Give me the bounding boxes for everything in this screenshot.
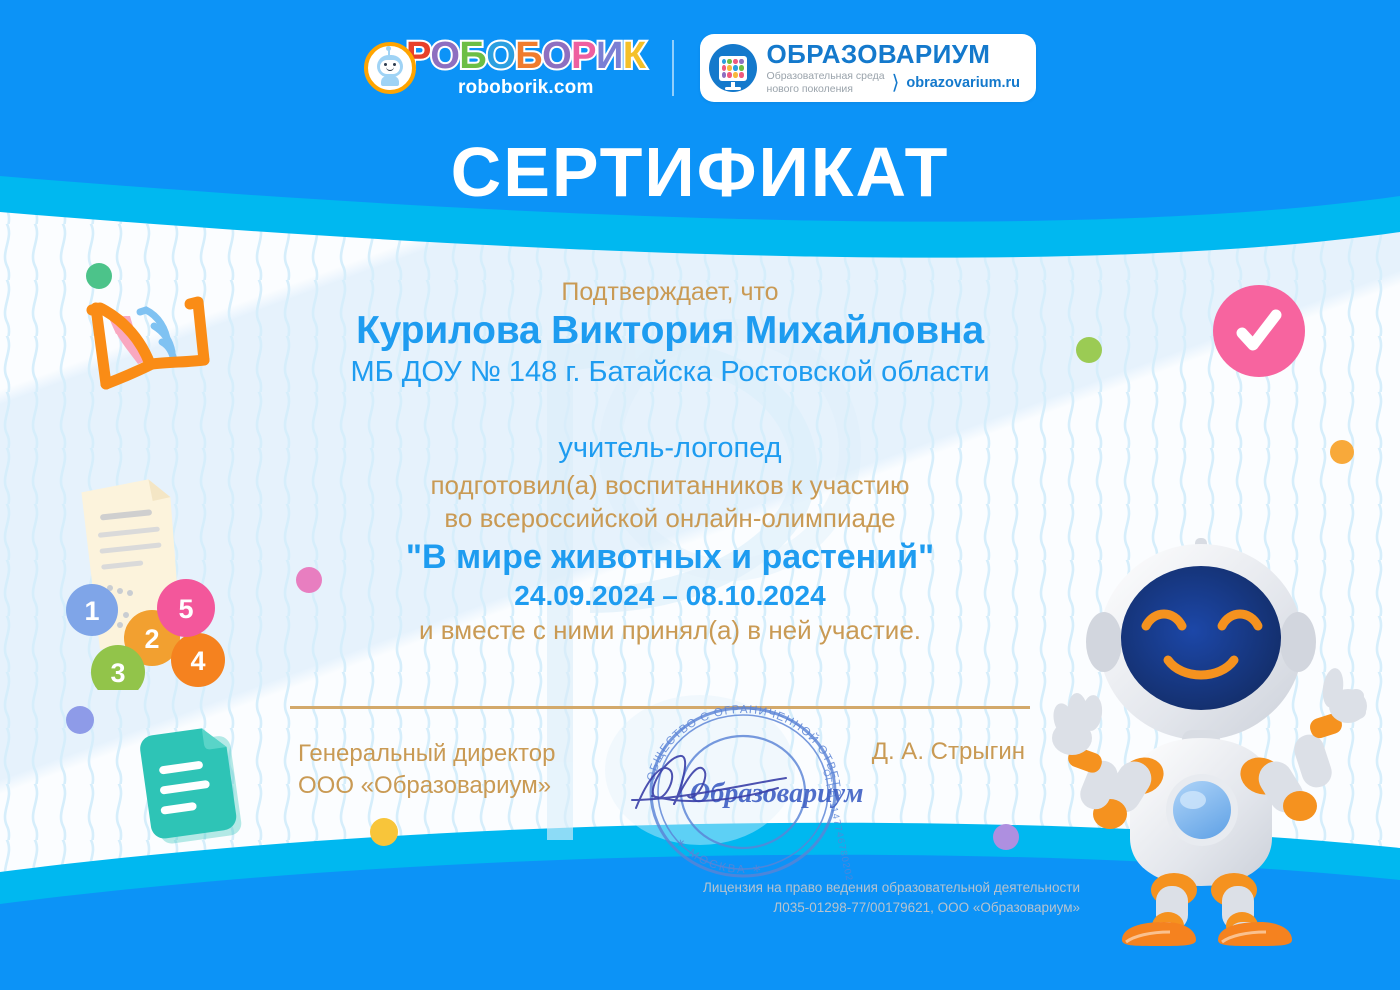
number-bubble-label: 5 — [178, 594, 193, 624]
roboborik-letter: Б — [515, 35, 542, 77]
license-note: Лицензия на право ведения образовательно… — [540, 878, 1080, 917]
signer-position: Генеральный директор ООО «Образовариум» — [298, 738, 555, 801]
roboborik-logo[interactable]: РОБОБОРИК roboborik.com — [364, 37, 646, 99]
signer-name: Д. А. Стрыгин — [872, 738, 1025, 766]
dot-yellow-bottom — [370, 818, 398, 846]
monitor-dot — [727, 59, 731, 64]
monitor-dot — [733, 72, 737, 77]
monitor-dot — [739, 59, 743, 64]
signer-position-line2: ООО «Образовариум» — [298, 770, 555, 802]
company-stamp: ОБЩЕСТВО С ОГРАНИЧЕННОЙ ОТВЕТСТВЕННОСТЬЮ… — [618, 700, 868, 880]
monitor-dot — [727, 65, 731, 70]
number-bubble-label: 2 — [144, 624, 159, 654]
teal-document-icon — [136, 722, 252, 854]
page-title: СЕРТИФИКАТ — [0, 132, 1400, 212]
olympiad-dates: 24.09.2024 – 08.10.2024 — [280, 580, 1060, 612]
monitor-icon — [709, 44, 757, 92]
roboborik-letter: О — [486, 35, 515, 77]
number-bubble-label: 1 — [84, 596, 99, 626]
obrazovarium-logo[interactable]: ОБРАЗОВАРИУМ Образовательная среда новог… — [700, 34, 1036, 102]
recipient-role: учитель-логопед — [280, 432, 1060, 465]
monitor-dot — [739, 65, 743, 70]
license-line1: Лицензия на право ведения образовательно… — [540, 878, 1080, 898]
number-bubble-label: 4 — [190, 646, 205, 676]
dot-periwinkle-left — [66, 706, 94, 734]
roboborik-letter: О — [542, 35, 571, 77]
obrazovarium-subtitle: Образовательная среда нового поколения — [767, 70, 885, 95]
roboborik-letter: Б — [459, 35, 486, 77]
dot-green-top-left — [86, 263, 112, 289]
monitor-dot — [722, 72, 726, 77]
certificate-body: Подтверждает, что Курилова Виктория Миха… — [280, 278, 1060, 646]
confirms-line: Подтверждает, что — [280, 278, 1060, 307]
signer-position-line1: Генеральный директор — [298, 738, 555, 770]
number-bubble-label: 3 — [110, 658, 125, 688]
monitor-dot — [727, 72, 731, 77]
svg-text:∗ МОСКВА ∗: ∗ МОСКВА ∗ — [673, 836, 765, 876]
dot-green-right — [1076, 337, 1102, 363]
robot-avatar-icon — [364, 42, 416, 94]
roboborik-letter: Р — [571, 35, 596, 77]
together-line: и вместе с ними принял(а) в ней участие. — [280, 615, 1060, 646]
monitor-dot — [722, 65, 726, 70]
open-book-icon — [86, 286, 266, 414]
recipient-name: Курилова Виктория Михайловна — [280, 309, 1060, 353]
dot-orange-right — [1330, 440, 1354, 464]
recipient-organization: МБ ДОУ № 148 г. Батайска Ростовской обла… — [280, 356, 1060, 389]
roboborik-letter: К — [623, 35, 646, 77]
roboborik-letter: И — [596, 35, 623, 77]
monitor-dot — [739, 72, 743, 77]
logo-separator — [672, 40, 674, 96]
roboborik-domain: roboborik.com — [406, 77, 646, 99]
monitor-dot — [733, 65, 737, 70]
numbered-steps-document-icon: 12345 — [66, 460, 266, 690]
roboborik-wordmark: РОБОБОРИК — [406, 37, 646, 75]
check-circle-icon — [1213, 285, 1305, 377]
obrazovarium-url: obrazovarium.ru — [906, 75, 1020, 91]
roboborik-letter: О — [430, 35, 459, 77]
olympiad-line: во всероссийской онлайн-олимпиаде — [280, 503, 1060, 534]
monitor-dot — [722, 59, 726, 64]
obrazovarium-title: ОБРАЗОВАРИУМ — [767, 41, 1020, 67]
header-logos: РОБОБОРИК roboborik.com ОБРАЗОВАРИУМ Обр… — [0, 28, 1400, 108]
certificate-page: РОБОБОРИК roboborik.com ОБРАЗОВАРИУМ Обр… — [0, 0, 1400, 990]
dot-purple-bottom — [993, 824, 1019, 850]
olympiad-theme: "В мире животных и растений" — [280, 538, 1060, 577]
svg-text:Образовариум: Образовариум — [690, 778, 864, 809]
prepared-line: подготовил(а) воспитанников к участию — [280, 470, 1060, 501]
chevron-right-icon: ⟩ — [892, 73, 900, 93]
license-line2: Л035-01298-77/00179621, ООО «Образовариу… — [540, 898, 1080, 918]
monitor-dot — [733, 59, 737, 64]
